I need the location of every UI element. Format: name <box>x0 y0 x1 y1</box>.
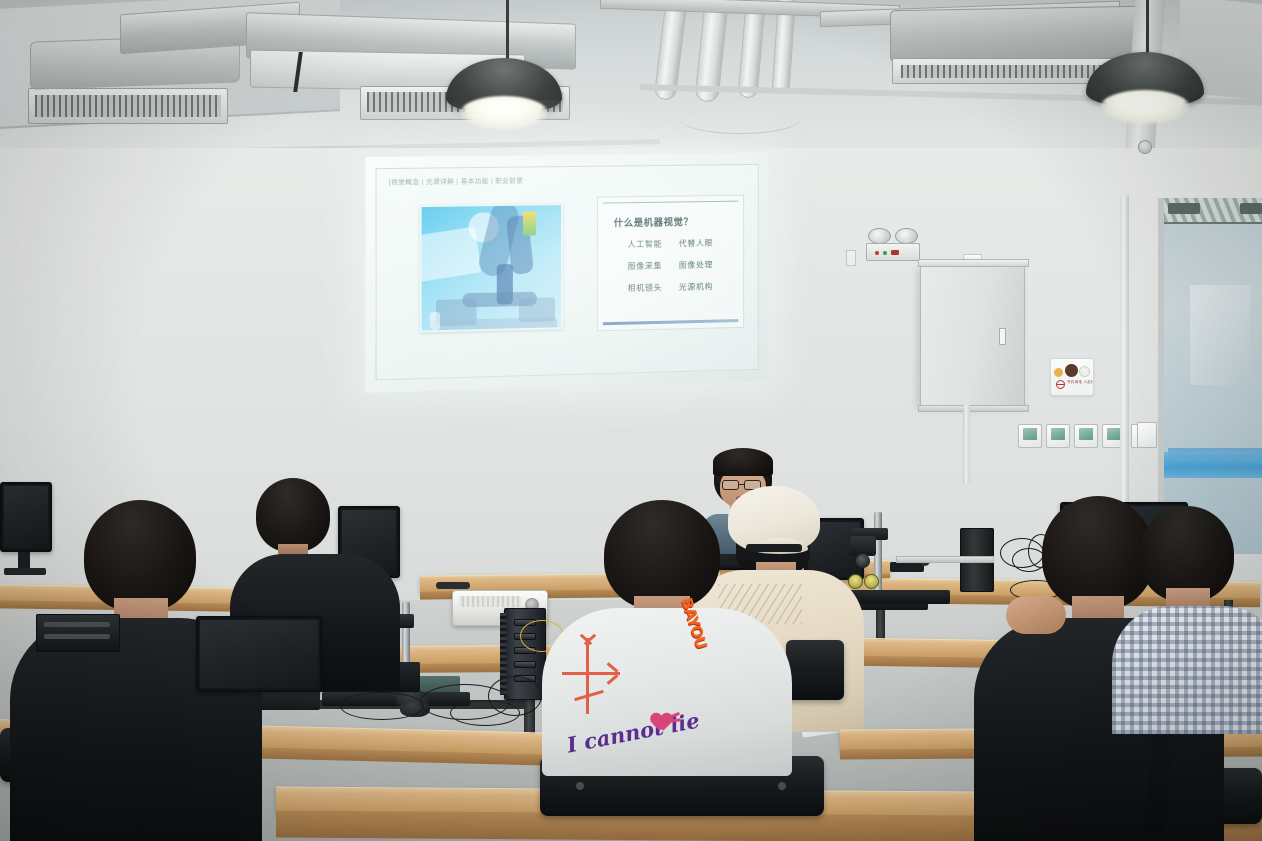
cap-strap <box>746 544 802 552</box>
cabinet-conduit <box>963 405 970 483</box>
head <box>604 500 720 610</box>
classroom-scene: [视觉概念 | 光源详解 | 基本功能 | 职业前景 什么是机器视觉？ <box>0 0 1262 841</box>
sticker-bear-white <box>1079 366 1090 377</box>
electrical-cabinet <box>920 265 1025 407</box>
emergency-light-icon <box>866 228 920 262</box>
socket-5[interactable] <box>1137 422 1157 448</box>
cabinet-lid <box>918 259 1029 267</box>
slide-textbox: 什么是机器视觉？ 人工智能代替人眼 图像采集图像处理 相机镜头光源机构 <box>597 195 744 332</box>
head <box>1042 496 1154 610</box>
door-closer-icon <box>1168 203 1200 214</box>
ipc-port-4 <box>514 661 536 668</box>
instructor-hair <box>713 448 773 476</box>
door-blue-band <box>1164 452 1262 478</box>
slide-photo-robot-cell <box>420 203 563 332</box>
glasses-bridge <box>739 484 744 485</box>
duct-insulated-right <box>890 6 1140 62</box>
wall-fitting-icon <box>1138 140 1152 154</box>
socket-1[interactable] <box>1018 424 1042 448</box>
glasses-left-lens-icon <box>722 480 739 490</box>
lab-device-left <box>36 614 120 652</box>
slide-textbox-rule-bottom <box>603 319 739 325</box>
rig-crossbar <box>890 562 924 572</box>
ceiling-cable <box>680 104 800 134</box>
cable-3 <box>340 692 424 720</box>
slide-row-2-right: 图像处理 <box>679 260 713 270</box>
ring-light-2 <box>864 574 879 589</box>
ring-light-1 <box>848 574 863 589</box>
crossed-arrows-icon <box>562 632 626 718</box>
head <box>256 478 330 552</box>
socket-3[interactable] <box>1074 424 1098 448</box>
lamp-glow <box>1100 90 1190 124</box>
slide-row-2-left: 图像采集 <box>628 260 679 272</box>
door-closer-icon-2 <box>1240 203 1262 214</box>
lab-device-left-slot-2 <box>44 634 110 639</box>
slide-row-3-right: 光源机构 <box>679 282 713 292</box>
socket-2[interactable] <box>1046 424 1070 448</box>
cabinet-lock-icon[interactable] <box>999 328 1006 345</box>
slide-row-1: 人工智能代替人眼 <box>628 238 714 250</box>
sticker-bear-brown <box>1065 364 1078 377</box>
slide-row-1-right: 代替人眼 <box>679 239 713 249</box>
monitor-left-3 <box>196 616 322 692</box>
sticker-bear-yellow <box>1054 368 1063 377</box>
lamp-cord <box>506 0 509 62</box>
monitor-left-1 <box>0 482 52 552</box>
glass-reflection <box>1190 285 1250 385</box>
rig-lens <box>856 554 870 568</box>
torso <box>1112 606 1262 734</box>
rig-camera <box>850 536 876 556</box>
monitor-left-1-base <box>4 568 46 575</box>
slide-row-1-left: 人工智能 <box>628 238 679 250</box>
chair-mid-right[interactable] <box>786 640 844 700</box>
cabinet-base <box>918 405 1029 412</box>
cable-4 <box>488 676 542 716</box>
hvac-unit-left <box>28 88 228 124</box>
lab-device-left-slot <box>44 622 110 627</box>
wall-rail <box>896 556 994 563</box>
slide-header: [视觉概念 | 光源详解 | 基本功能 | 职业前景 <box>389 175 523 187</box>
slide: [视觉概念 | 光源详解 | 基本功能 | 职业前景 什么是机器视觉？ <box>376 164 759 380</box>
shirt-graphic: BAYOU I cannot lie <box>556 612 752 762</box>
projection-screen: [视觉概念 | 光源详解 | 基本功能 | 职业前景 什么是机器视觉？ <box>365 153 768 393</box>
head <box>84 500 196 612</box>
slide-row-3-left: 相机镜头 <box>628 282 679 294</box>
ceiling <box>0 0 1262 152</box>
winged-heart-icon <box>652 712 674 732</box>
sticker-text: 节约用电 人走灯灭 <box>1067 380 1094 385</box>
slide-row-2: 图像采集图像处理 <box>628 259 714 272</box>
pipe-3 <box>737 0 766 99</box>
slide-row-3: 相机镜头光源机构 <box>628 281 714 294</box>
wall-plate-small <box>846 250 856 266</box>
arm <box>1006 596 1066 634</box>
slide-textbox-rule-top <box>603 201 739 204</box>
lamp-glow <box>460 96 548 130</box>
desk-remote <box>436 582 470 589</box>
warning-sticker: 节约用电 人走灯灭 <box>1050 358 1094 396</box>
slide-title: 什么是机器视觉？ <box>614 214 694 229</box>
lamp-cord <box>1146 0 1149 56</box>
